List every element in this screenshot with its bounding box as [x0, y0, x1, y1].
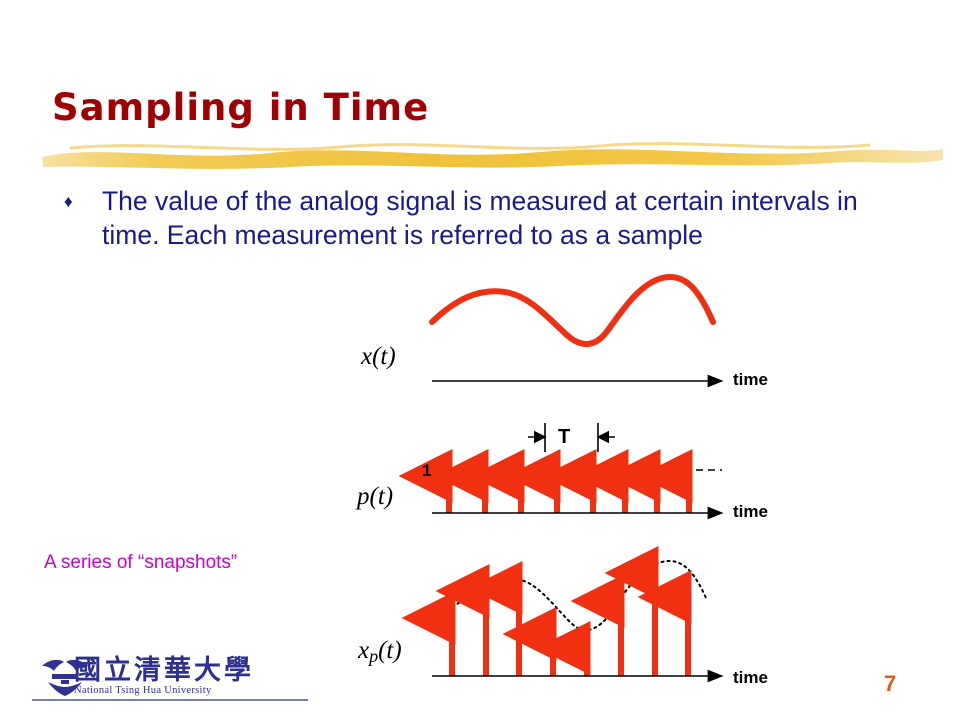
- label-xp-x: x: [358, 637, 369, 664]
- logo-chinese-name: 國立清華大學: [74, 648, 254, 687]
- period-label-T: T: [558, 426, 570, 449]
- logo-english-name: National Tsing Hua University: [74, 685, 212, 696]
- sampled-signal-plot: [432, 561, 722, 676]
- slide: Sampling in Time ♦ The value of the anal…: [0, 0, 960, 720]
- time-axis-label-3: time: [733, 668, 768, 688]
- label-xp-of-t: xp(t): [358, 637, 402, 667]
- bullet-text: The value of the analog signal is measur…: [102, 185, 890, 253]
- snapshot-caption: A series of “snapshots”: [44, 552, 237, 574]
- analog-signal-plot: [432, 277, 722, 381]
- page-title: Sampling in Time: [52, 86, 429, 129]
- time-axis-label-1: time: [733, 370, 768, 390]
- bullet-marker-icon: ♦: [64, 193, 73, 210]
- time-axis-label-2: time: [733, 502, 768, 522]
- label-x-of-t: x(t): [361, 343, 396, 371]
- label-xp-sub: p: [369, 646, 378, 666]
- impulse-train-plot: [432, 423, 722, 513]
- page-number: 7: [884, 671, 896, 697]
- bullet-block: ♦ The value of the analog signal is meas…: [60, 185, 890, 253]
- label-xp-tail: (t): [378, 637, 402, 664]
- brush-stroke-divider: [40, 136, 945, 170]
- amplitude-label-one: 1: [422, 461, 431, 481]
- label-p-of-t: p(t): [357, 483, 393, 511]
